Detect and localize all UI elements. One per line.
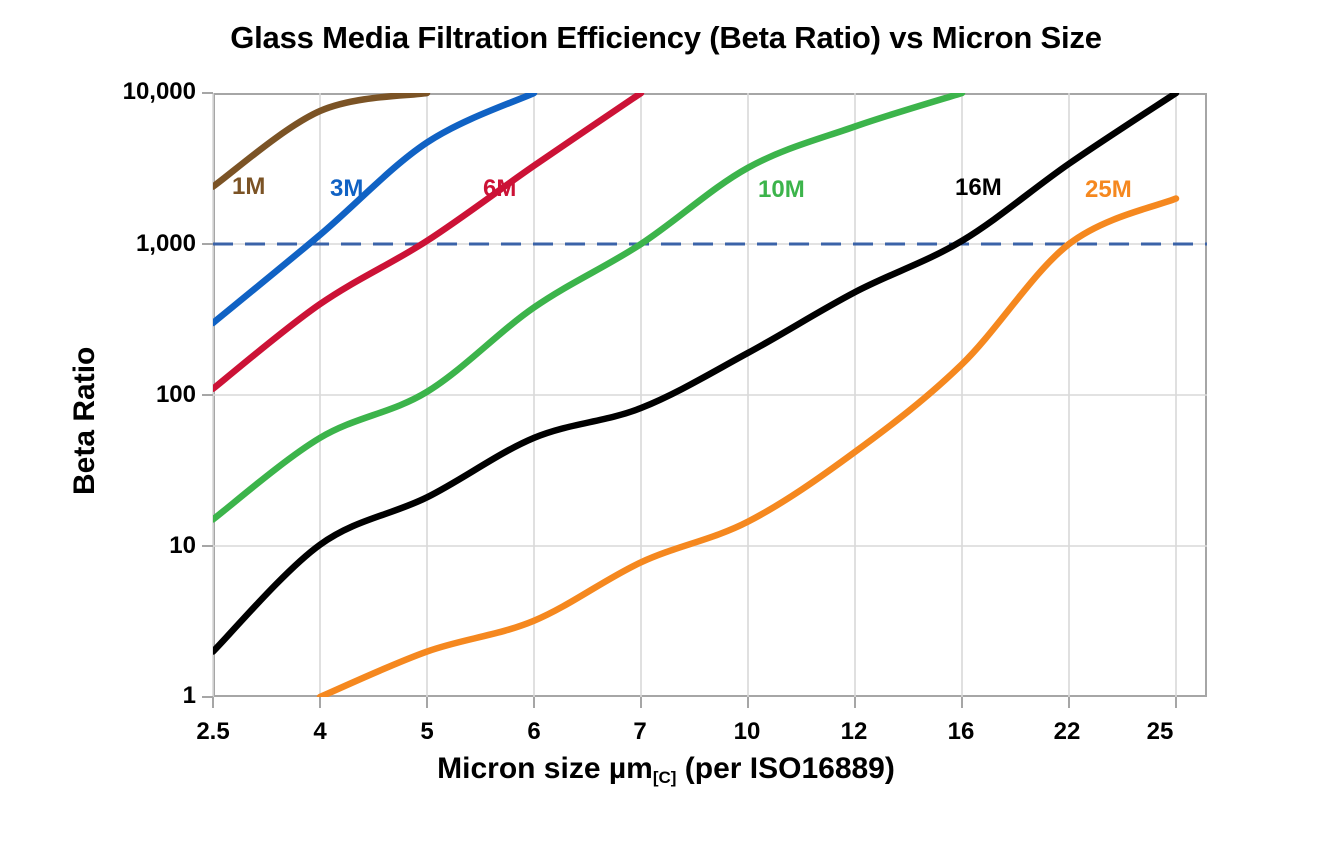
x-axis-title-subscript: [C]: [653, 768, 677, 787]
x-tick-6: 12: [794, 718, 914, 746]
y-tick-100: 100: [46, 381, 196, 409]
x-tick-4: 7: [580, 718, 700, 746]
y-axis-tick-labels: 10,000 1,000 100 10 1: [0, 0, 196, 842]
y-tick-1: 1: [46, 682, 196, 710]
x-tick-7: 16: [901, 718, 1021, 746]
x-tick-9: 25: [1100, 718, 1220, 746]
y-tick-10: 10: [46, 532, 196, 560]
x-axis-title-main: Micron size µm: [437, 752, 653, 785]
series-label-25m: 25M: [1085, 176, 1132, 204]
x-tick-0: 2.5: [153, 718, 273, 746]
chart-page: Glass Media Filtration Efficiency (Beta …: [0, 0, 1332, 842]
series-label-1m: 1M: [232, 173, 265, 201]
x-axis-title-suffix: (per ISO16889): [676, 752, 894, 785]
x-tick-3: 6: [474, 718, 594, 746]
x-tick-1: 4: [260, 718, 380, 746]
series-label-16m: 16M: [955, 174, 1002, 202]
chart-title: Glass Media Filtration Efficiency (Beta …: [0, 20, 1332, 56]
series-label-10m: 10M: [758, 176, 805, 204]
y-tick-10000: 10,000: [46, 78, 196, 106]
series-label-3m: 3M: [330, 175, 363, 203]
x-tick-2: 5: [367, 718, 487, 746]
y-tick-1000: 1,000: [46, 230, 196, 258]
x-axis-title: Micron size µm[C] (per ISO16889): [0, 752, 1332, 788]
x-tick-5: 10: [687, 718, 807, 746]
series-label-6m: 6M: [483, 175, 516, 203]
